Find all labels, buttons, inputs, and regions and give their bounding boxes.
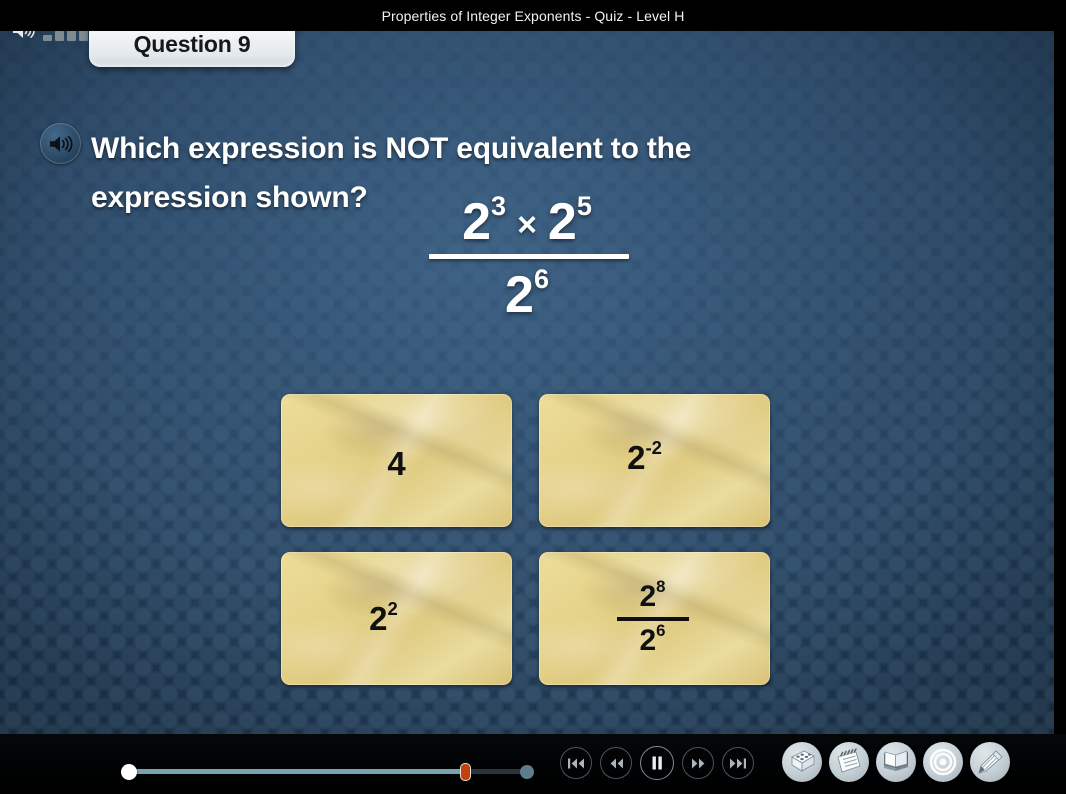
answer-option-a-text: 4 xyxy=(387,447,405,480)
answer-option-b-text: 2-2 xyxy=(627,441,662,474)
speaker-icon xyxy=(48,134,74,154)
skip-forward-icon xyxy=(729,757,747,770)
answer-b-exponent: -2 xyxy=(645,439,661,457)
answer-option-d-text: 28 26 xyxy=(617,582,689,656)
rewind-icon xyxy=(608,757,625,770)
answer-b-base: 2 xyxy=(627,441,645,474)
answer-option-b[interactable]: 2-2 xyxy=(539,394,770,527)
answer-d-denominator-exponent: 6 xyxy=(656,623,665,640)
answer-c-base: 2 xyxy=(369,602,387,635)
progress-fill xyxy=(129,769,467,774)
expression-denominator: 26 xyxy=(505,259,549,321)
quiz-app-window: Properties of Integer Exponents - Quiz -… xyxy=(0,0,1066,794)
answer-options-grid: 4 2-2 22 28 26 xyxy=(281,394,771,685)
volume-bar-2 xyxy=(55,31,64,41)
question-prompt-text: Which expression is NOT equivalent to th… xyxy=(91,124,771,222)
answer-c-exponent: 2 xyxy=(388,600,398,618)
window-title: Properties of Integer Exponents - Quiz -… xyxy=(382,8,685,24)
answer-d-fraction-bar xyxy=(617,617,689,621)
playback-transport-controls xyxy=(560,746,754,780)
notepad-icon xyxy=(834,747,864,777)
answer-option-d[interactable]: 28 26 xyxy=(539,552,770,685)
progress-marker[interactable] xyxy=(460,763,471,781)
right-border-gutter xyxy=(1054,0,1066,794)
question-number-label: Question 9 xyxy=(134,31,251,58)
answer-d-denominator: 26 xyxy=(639,626,665,656)
progress-handle[interactable] xyxy=(121,764,137,780)
playback-progress-slider[interactable] xyxy=(121,762,536,782)
answer-a-base: 4 xyxy=(387,447,405,480)
target-icon xyxy=(928,747,958,777)
pencil-icon xyxy=(975,747,1005,777)
target-tool-button[interactable] xyxy=(923,742,963,782)
tool-palette xyxy=(782,742,1010,782)
pause-button[interactable] xyxy=(640,746,674,780)
answer-option-c[interactable]: 22 xyxy=(281,552,512,685)
glossary-tool-button[interactable] xyxy=(876,742,916,782)
fast-forward-icon xyxy=(690,757,707,770)
answer-d-numerator-exponent: 8 xyxy=(656,579,665,596)
rewind-button[interactable] xyxy=(600,747,632,779)
answer-d-numerator: 28 xyxy=(639,582,665,612)
read-aloud-button[interactable] xyxy=(40,123,81,164)
notepad-tool-button[interactable] xyxy=(829,742,869,782)
window-titlebar: Properties of Integer Exponents - Quiz -… xyxy=(0,0,1066,31)
skip-forward-button[interactable] xyxy=(722,747,754,779)
calculator-icon xyxy=(787,747,817,777)
pause-icon xyxy=(651,756,663,770)
book-icon xyxy=(881,747,911,777)
denominator-base: 2 xyxy=(505,269,534,321)
volume-bar-1 xyxy=(43,35,52,41)
progress-endcap xyxy=(520,765,534,779)
pencil-tool-button[interactable] xyxy=(970,742,1010,782)
skip-back-button[interactable] xyxy=(560,747,592,779)
answer-option-c-text: 22 xyxy=(369,602,398,635)
answer-d-denominator-base: 2 xyxy=(639,626,656,656)
fast-forward-button[interactable] xyxy=(682,747,714,779)
calculator-tool-button[interactable] xyxy=(782,742,822,782)
skip-back-icon xyxy=(567,757,585,770)
answer-d-numerator-base: 2 xyxy=(639,582,656,612)
answer-option-a[interactable]: 4 xyxy=(281,394,512,527)
denominator-exponent: 6 xyxy=(534,266,549,293)
